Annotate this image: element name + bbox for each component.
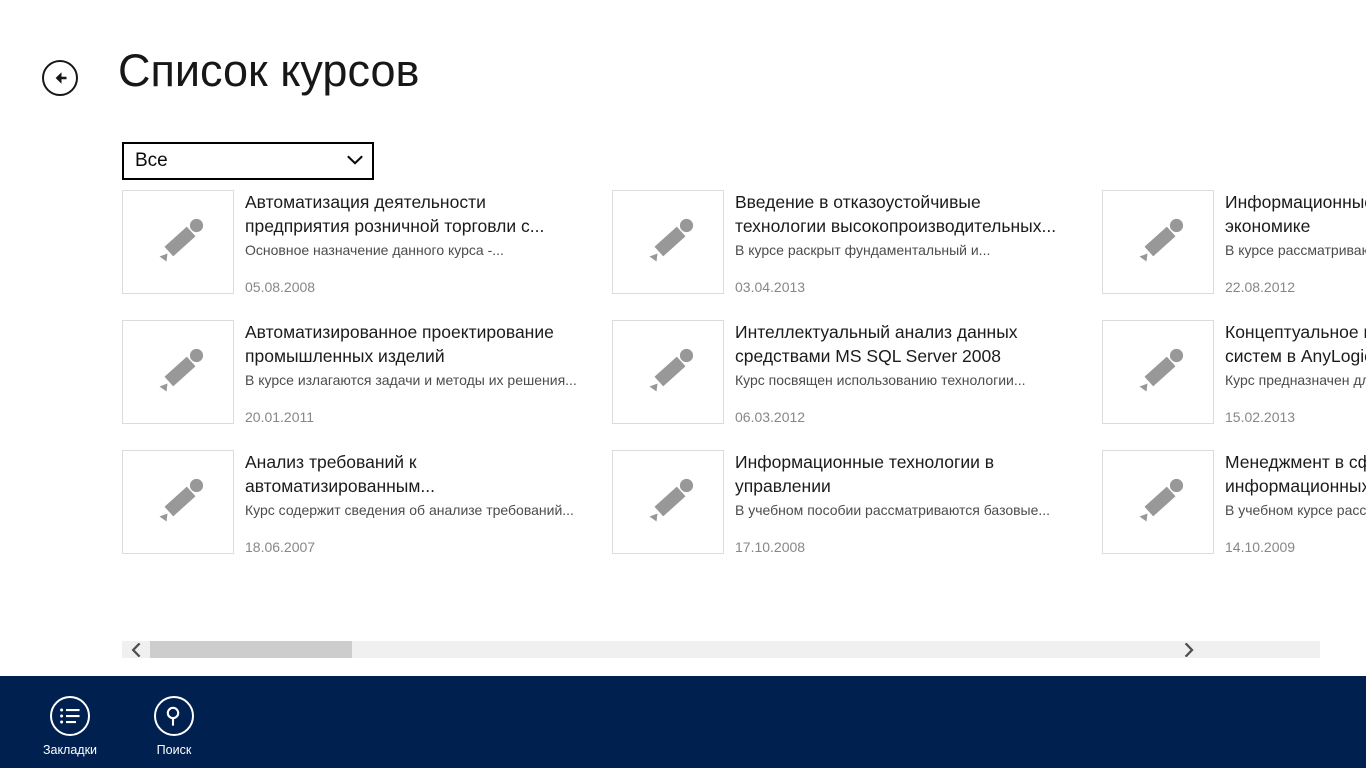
pencil-icon (641, 217, 697, 274)
course-tile[interactable]: Информационные технологии в экономикеВ к… (1102, 190, 1366, 302)
bottom-app-bar: Закладки Поиск (0, 676, 1366, 768)
course-description: Курс посвящен использованию технологии..… (735, 370, 1082, 390)
course-date: 06.03.2012 (735, 409, 805, 424)
course-date: 22.08.2012 (1225, 279, 1295, 294)
course-thumbnail[interactable] (612, 450, 724, 554)
course-info: Менеджмент в сфере информационных технол… (1214, 450, 1366, 554)
course-date: 15.02.2013 (1225, 409, 1295, 424)
course-title: Информационные технологии в экономике (1225, 190, 1366, 238)
page-header: Список курсов (0, 0, 1366, 130)
course-title: Автоматизация деятельности предприятия р… (245, 190, 592, 238)
course-description: Курс предназначен для специалистов... (1225, 370, 1366, 390)
course-title: Интеллектуальный анализ данных средствам… (735, 320, 1082, 368)
course-description: В курсе рассматриваются вопросы... (1225, 240, 1366, 260)
pencil-icon (1131, 347, 1187, 404)
course-thumbnail[interactable] (612, 190, 724, 294)
course-thumbnail[interactable] (1102, 450, 1214, 554)
pencil-icon (151, 347, 207, 404)
course-title: Концептуальное проектирование систем в A… (1225, 320, 1366, 368)
course-thumbnail[interactable] (122, 190, 234, 294)
course-tile[interactable]: Автоматизированное проектирование промыш… (122, 320, 592, 432)
course-grid: Автоматизация деятельности предприятия р… (122, 190, 1366, 590)
course-info: Информационные технологии в управленииВ … (724, 450, 1082, 554)
course-filter-value: Все (124, 150, 338, 172)
course-description: В курсе раскрыт фундаментальный и... (735, 240, 1082, 260)
pencil-icon (1131, 477, 1187, 534)
arrow-left-circle-icon (50, 68, 70, 88)
course-info: Автоматизированное проектирование промыш… (234, 320, 592, 424)
appbar-button-label: Поиск (157, 743, 192, 757)
scrollbar-thumb[interactable] (150, 641, 352, 658)
course-thumbnail[interactable] (1102, 320, 1214, 424)
pencil-icon (151, 477, 207, 534)
course-tile[interactable]: Концептуальное проектирование систем в A… (1102, 320, 1366, 432)
scrollbar-track[interactable] (150, 641, 1320, 658)
search-icon (154, 696, 194, 736)
pencil-icon (1131, 217, 1187, 274)
course-tile[interactable]: Автоматизация деятельности предприятия р… (122, 190, 592, 302)
course-title: Автоматизированное проектирование промыш… (245, 320, 592, 368)
chevron-right-icon[interactable] (1175, 641, 1203, 658)
chevron-down-icon[interactable] (338, 155, 372, 168)
chevron-left-icon[interactable] (122, 641, 150, 658)
course-tile[interactable]: Менеджмент в сфере информационных технол… (1102, 450, 1366, 562)
course-date: 14.10.2009 (1225, 539, 1295, 554)
list-bookmarks-icon (50, 696, 90, 736)
course-info: Информационные технологии в экономикеВ к… (1214, 190, 1366, 294)
course-date: 03.04.2013 (735, 279, 805, 294)
course-description: В курсе излагаются задачи и методы их ре… (245, 370, 592, 390)
appbar-button-label: Закладки (43, 743, 97, 757)
course-title: Анализ требований к автоматизированным..… (245, 450, 592, 498)
course-tile[interactable]: Введение в отказоустойчивые технологии в… (612, 190, 1082, 302)
course-description: В учебном курсе рассматриваются... (1225, 500, 1366, 520)
course-info: Концептуальное проектирование систем в A… (1214, 320, 1366, 424)
pencil-icon (151, 217, 207, 274)
appbar-button-bookmarks[interactable]: Закладки (40, 696, 100, 757)
course-thumbnail[interactable] (122, 320, 234, 424)
course-tile[interactable]: Анализ требований к автоматизированным..… (122, 450, 592, 562)
course-thumbnail[interactable] (612, 320, 724, 424)
course-thumbnail[interactable] (1102, 190, 1214, 294)
course-tile[interactable]: Интеллектуальный анализ данных средствам… (612, 320, 1082, 432)
course-date: 17.10.2008 (735, 539, 805, 554)
course-title: Информационные технологии в управлении (735, 450, 1082, 498)
course-info: Введение в отказоустойчивые технологии в… (724, 190, 1082, 294)
appbar-button-search[interactable]: Поиск (144, 696, 204, 757)
course-filter-select[interactable]: Все (122, 142, 374, 180)
pencil-icon (641, 477, 697, 534)
course-date: 20.01.2011 (245, 409, 314, 424)
course-description: Основное назначение данного курса -... (245, 240, 592, 260)
horizontal-scrollbar[interactable] (122, 641, 1320, 658)
course-tile[interactable]: Информационные технологии в управленииВ … (612, 450, 1082, 562)
page-title: Список курсов (118, 46, 419, 96)
course-title: Введение в отказоустойчивые технологии в… (735, 190, 1082, 238)
course-info: Интеллектуальный анализ данных средствам… (724, 320, 1082, 424)
course-thumbnail[interactable] (122, 450, 234, 554)
course-info: Автоматизация деятельности предприятия р… (234, 190, 592, 294)
pencil-icon (641, 347, 697, 404)
course-description: Курс содержит сведения об анализе требов… (245, 500, 592, 520)
course-description: В учебном пособии рассматриваются базовы… (735, 500, 1082, 520)
back-button[interactable] (42, 60, 78, 96)
course-date: 05.08.2008 (245, 279, 315, 294)
course-title: Менеджмент в сфере информационных технол… (1225, 450, 1366, 498)
course-date: 18.06.2007 (245, 539, 315, 554)
course-info: Анализ требований к автоматизированным..… (234, 450, 592, 554)
